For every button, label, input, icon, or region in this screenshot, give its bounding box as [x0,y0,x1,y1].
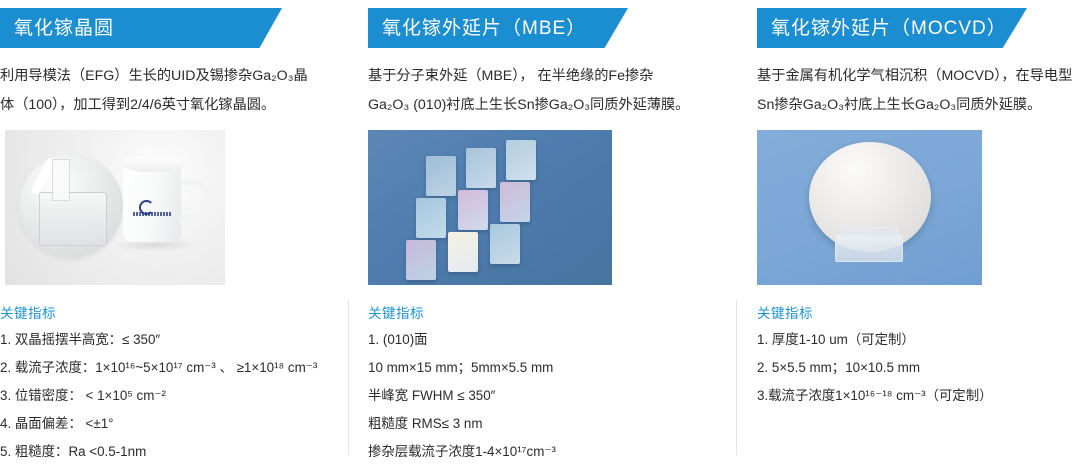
description-line: 利用导模法（EFG）生长的UID及锡掺杂Ga₂O₃晶 [0,62,330,91]
epi-chip-shape [448,232,478,272]
description-line: Sn掺杂Ga₂O₃衬底上生长Ga₂O₃同质外延膜。 [757,91,1078,120]
kpi-list-wafer: 1. 双晶摇摆半高宽：≤ 350″ 2. 载流子浓度：1×10¹⁶~5×10¹⁷… [0,326,340,466]
kpi-item: 2. 5×5.5 mm；10×10.5 mm [757,354,1078,382]
epi-chip-shape [426,156,456,196]
product-description: 基于金属有机化学气相沉积（MOCVD），在导电型 Sn掺杂Ga₂O₃衬底上生长G… [757,62,1078,120]
logo-text-bar [133,212,171,216]
column-divider [736,300,737,455]
kpi-item: 半峰宽 FWHM ≤ 350″ [368,382,708,410]
product-column-mbe: 氧化镓外延片（MBE） 基于分子束外延（MBE）， 在半绝缘的Fe掺杂 Ga₂O… [368,0,708,455]
kpi-item: 4. 晶面偏差： <±1° [0,410,340,438]
product-photo-wafer [5,130,225,285]
mug-logo [133,200,171,216]
product-description: 基于分子束外延（MBE）， 在半绝缘的Fe掺杂 Ga₂O₃ (010)衬底上生长… [368,62,698,120]
mug-knob-shape [145,146,156,159]
description-line: 基于金属有机化学气相沉积（MOCVD），在导电型 [757,62,1078,91]
kpi-item: 10 mm×15 mm；5mm×5.5 mm [368,354,708,382]
description-line: 体（100），加工得到2/4/6英寸氧化镓晶圆。 [0,91,330,120]
column-banner-mbe: 氧化镓外延片（MBE） [368,8,628,48]
wafer-holder-shape [39,192,107,246]
wafer-stand-shape [835,234,903,262]
kpi-item: 2. 载流子浓度：1×10¹⁶~5×10¹⁷ cm⁻³ 、 ≥1×10¹⁸ cm… [0,354,340,382]
banner-title: 氧化镓晶圆 [14,19,114,38]
mug-handle-shape [177,180,209,220]
kpi-list-mbe: 1. (010)面 10 mm×15 mm；5mm×5.5 mm 半峰宽 FWH… [368,326,708,466]
product-photo-mocvd-wafer [757,130,982,285]
kpi-heading: 关键指标 [368,302,424,322]
epi-chip-shape [466,148,496,188]
kpi-item: 掺杂层载流子浓度1-4×10¹⁷cm⁻³ [368,438,708,466]
kpi-item: 粗糙度 RMS≤ 3 nm [368,410,708,438]
kpi-item: 5. 粗糙度：Ra <0.5-1nm [0,438,340,466]
column-banner-mocvd: 氧化镓外延片（MOCVD） [757,8,1027,48]
epi-chip-shape [458,190,488,230]
product-column-wafer: 氧化镓晶圆 利用导模法（EFG）生长的UID及锡掺杂Ga₂O₃晶 体（100），… [0,0,340,455]
column-divider [348,300,349,455]
kpi-item: 1. 厚度1-10 um（可定制） [757,326,1078,354]
column-banner-wafer: 氧化镓晶圆 [0,8,282,48]
description-line: 基于分子束外延（MBE）， 在半绝缘的Fe掺杂 [368,62,698,91]
kpi-item: 1. 双晶摇摆半高宽：≤ 350″ [0,326,340,354]
epi-chip-shape [416,198,446,238]
epi-chip-shape [506,140,536,180]
epi-chip-shape [500,182,530,222]
kpi-list-mocvd: 1. 厚度1-10 um（可定制） 2. 5×5.5 mm；10×10.5 mm… [757,326,1078,410]
banner-title: 氧化镓外延片（MOCVD） [771,19,1007,38]
product-description: 利用导模法（EFG）生长的UID及锡掺杂Ga₂O₃晶 体（100），加工得到2/… [0,62,330,120]
description-line: Ga₂O₃ (010)衬底上生长Sn掺Ga₂O₃同质外延薄膜。 [368,91,698,120]
kpi-item: 1. (010)面 [368,326,708,354]
epi-chip-shape [490,224,520,264]
epi-chip-shape [406,240,436,280]
product-column-mocvd: 氧化镓外延片（MOCVD） 基于金属有机化学气相沉积（MOCVD），在导电型 S… [757,0,1078,455]
product-spec-board: 氧化镓晶圆 利用导模法（EFG）生长的UID及锡掺杂Ga₂O₃晶 体（100），… [0,0,1078,455]
banner-title: 氧化镓外延片（MBE） [382,19,586,38]
kpi-heading: 关键指标 [757,302,813,322]
product-photo-mbe-chips [368,130,612,285]
kpi-heading: 关键指标 [0,302,56,322]
kpi-item: 3.载流子浓度1×10¹⁶⁻¹⁸ cm⁻³（可定制） [757,382,1078,410]
kpi-item: 3. 位错密度： < 1×10⁵ cm⁻² [0,382,340,410]
